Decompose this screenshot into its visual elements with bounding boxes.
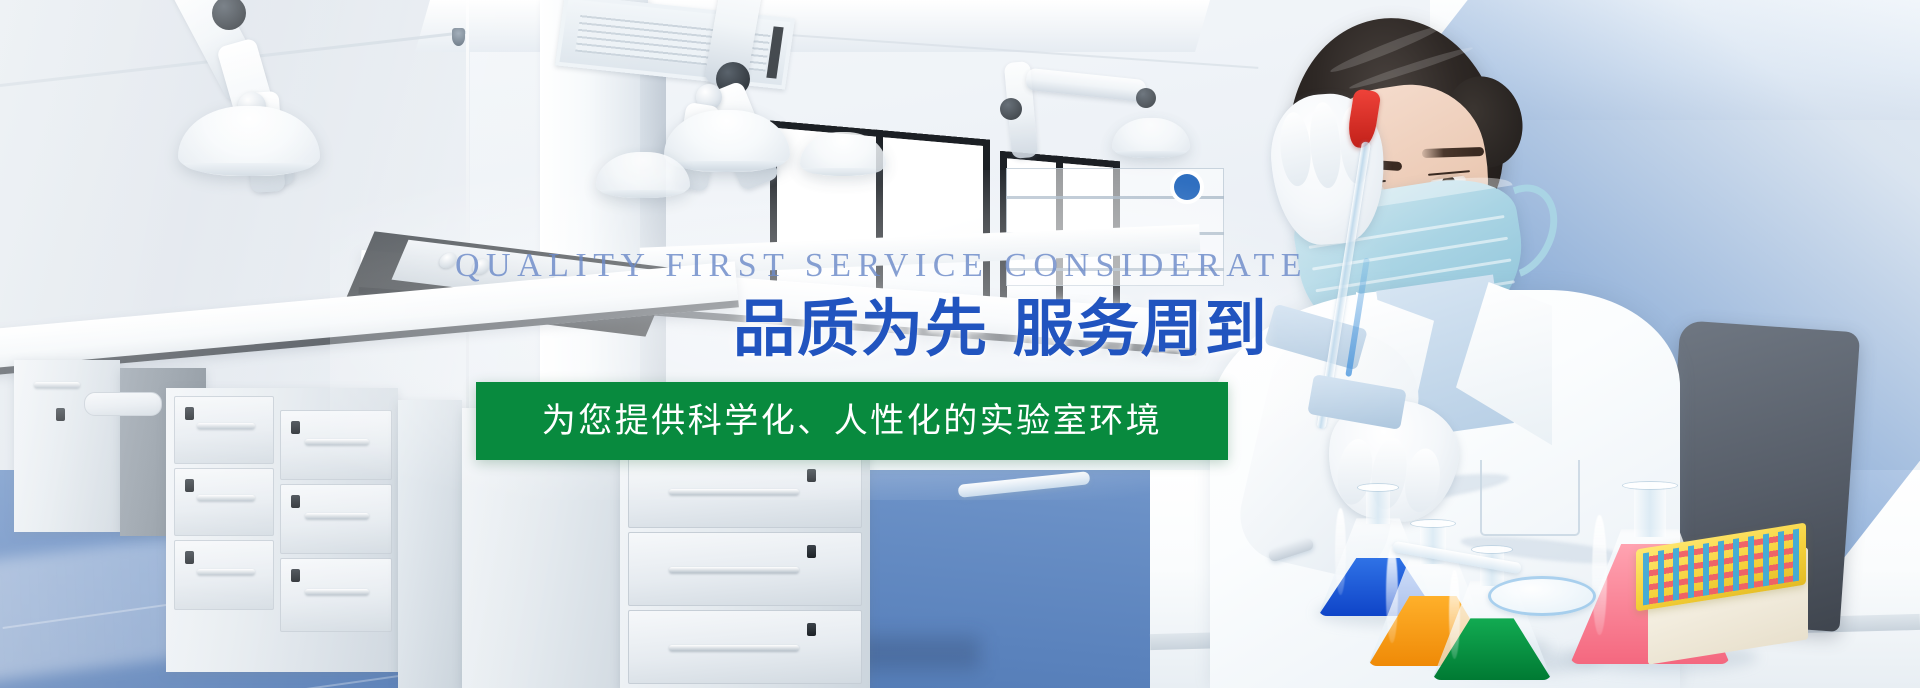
hero-banner: QUALITY FIRST SERVICE CONSIDERATE 品质为先 服… (0, 0, 1920, 688)
banner-eyebrow-text: QUALITY FIRST SERVICE CONSIDERATE (455, 249, 1308, 283)
banner-copy: QUALITY FIRST SERVICE CONSIDERATE 品质为先 服… (0, 0, 1920, 688)
banner-headline: 品质为先 服务周到 (733, 298, 1269, 360)
banner-subtitle-bar: 为您提供科学化、人性化的实验室环境 (476, 382, 1228, 460)
banner-subtitle-text: 为您提供科学化、人性化的实验室环境 (542, 404, 1163, 438)
